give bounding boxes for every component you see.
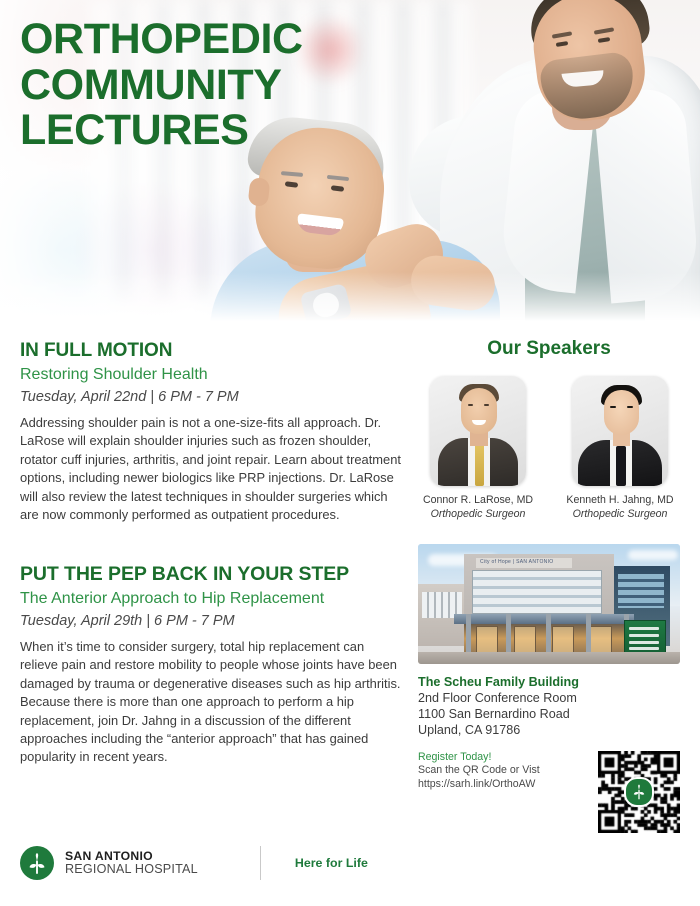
speaker-1-role: Orthopedic Surgeon xyxy=(418,507,538,521)
lecture-card-2: PUT THE PEP BACK IN YOUR STEP The Anteri… xyxy=(20,563,405,767)
register-instruction: Scan the QR Code or Vist xyxy=(418,764,588,778)
footer: SAN ANTONIO REGIONAL HOSPITAL Here for L… xyxy=(20,846,680,880)
venue-photo-door-2 xyxy=(514,626,536,654)
venue-photo-ground xyxy=(418,652,680,664)
speaker-1-head xyxy=(461,388,497,434)
venue-name: The Scheu Family Building xyxy=(418,675,680,689)
venue-photo: City of Hope | SAN ANTONIO xyxy=(418,544,680,664)
speaker-1-photo xyxy=(430,376,526,486)
venue-photo-door-4 xyxy=(590,626,612,654)
footer-divider xyxy=(260,846,261,880)
page-title-line-1: ORTHOPEDIC xyxy=(20,17,303,63)
speaker-2-tie xyxy=(616,446,626,486)
page-title: ORTHOPEDIC COMMUNITY LECTURES xyxy=(20,17,303,154)
lecture-2-title: PUT THE PEP BACK IN YOUR STEP xyxy=(20,563,405,586)
qr-center-logo-icon xyxy=(624,777,654,807)
venue-photo-door-3 xyxy=(552,626,574,654)
page-title-line-2: COMMUNITY xyxy=(20,63,303,109)
speakers-heading: Our Speakers xyxy=(418,338,680,360)
speaker-2-eye-left xyxy=(610,406,616,408)
hero-background-red-accent xyxy=(300,10,360,90)
venue-photo-wayfinding-sign xyxy=(624,620,666,654)
speakers-list: Connor R. LaRose, MD Orthopedic Surgeon … xyxy=(418,376,680,522)
speaker-1-eye-right xyxy=(484,404,489,406)
lecture-card-1: IN FULL MOTION Restoring Shoulder Health… xyxy=(20,340,405,525)
hospital-logo-icon xyxy=(20,846,54,880)
venue-address: The Scheu Family Building 2nd Floor Conf… xyxy=(418,675,680,739)
lecture-2-description: When it’s time to consider surgery, tota… xyxy=(20,638,405,767)
venue-photo-building-sign-text: City of Hope | SAN ANTONIO xyxy=(480,559,553,565)
hero-bottom-fade xyxy=(0,272,700,332)
venue-photo-right-glass xyxy=(618,574,664,608)
register-text-block: Register Today! Scan the QR Code or Vist… xyxy=(418,751,588,792)
speakers-and-venue-column: Our Speakers Connor R. LaRose, MD Orthop… xyxy=(418,338,680,833)
page-title-line-3: LECTURES xyxy=(20,108,303,154)
speaker-1-name: Connor R. LaRose, MD xyxy=(418,494,538,507)
lecture-1-title: IN FULL MOTION xyxy=(20,340,405,362)
speaker-1-tie xyxy=(475,444,484,486)
speaker-2-photo xyxy=(572,376,668,486)
register-heading: Register Today! xyxy=(418,751,588,763)
venue-photo-cloud-2 xyxy=(628,550,678,560)
hospital-tagline: Here for Life xyxy=(295,856,368,870)
venue-room: 2nd Floor Conference Room xyxy=(418,690,680,706)
hospital-wordmark: SAN ANTONIO REGIONAL HOSPITAL xyxy=(65,850,198,876)
venue-photo-glass-facade xyxy=(472,570,602,614)
speaker-1-eye-left xyxy=(468,404,473,406)
speaker-2-eye-right xyxy=(627,406,633,408)
hospital-name-line-1: SAN ANTONIO xyxy=(65,850,198,863)
register-section: Register Today! Scan the QR Code or Vist… xyxy=(418,751,680,833)
lectures-column: IN FULL MOTION Restoring Shoulder Health… xyxy=(20,340,405,767)
lecture-1-datetime: Tuesday, April 22nd | 6 PM - 7 PM xyxy=(20,389,405,405)
venue-city-state-zip: Upland, CA 91786 xyxy=(418,722,680,738)
doctor-coat-lapel-right xyxy=(593,86,700,303)
register-url[interactable]: https://sarh.link/OrthoAW xyxy=(418,778,588,792)
venue-street: 1100 San Bernardino Road xyxy=(418,706,680,722)
speaker-2-head xyxy=(604,390,639,435)
venue-photo-door-1 xyxy=(476,626,498,654)
qr-code[interactable] xyxy=(598,751,680,833)
speaker-2-role: Orthopedic Surgeon xyxy=(560,507,680,521)
speaker-card-1: Connor R. LaRose, MD Orthopedic Surgeon xyxy=(418,376,538,522)
lecture-2-subtitle: The Anterior Approach to Hip Replacement xyxy=(20,590,405,608)
hospital-name-line-2: REGIONAL HOSPITAL xyxy=(65,863,198,876)
venue-photo-entry-canopy xyxy=(454,614,634,624)
lecture-1-subtitle: Restoring Shoulder Health xyxy=(20,366,405,384)
lecture-1-description: Addressing shoulder pain is not a one-si… xyxy=(20,414,405,525)
speaker-2-name: Kenneth H. Jahng, MD xyxy=(560,494,680,507)
speaker-card-2: Kenneth H. Jahng, MD Orthopedic Surgeon xyxy=(560,376,680,522)
lecture-2-datetime: Tuesday, April 29th | 6 PM - 7 PM xyxy=(20,613,405,629)
